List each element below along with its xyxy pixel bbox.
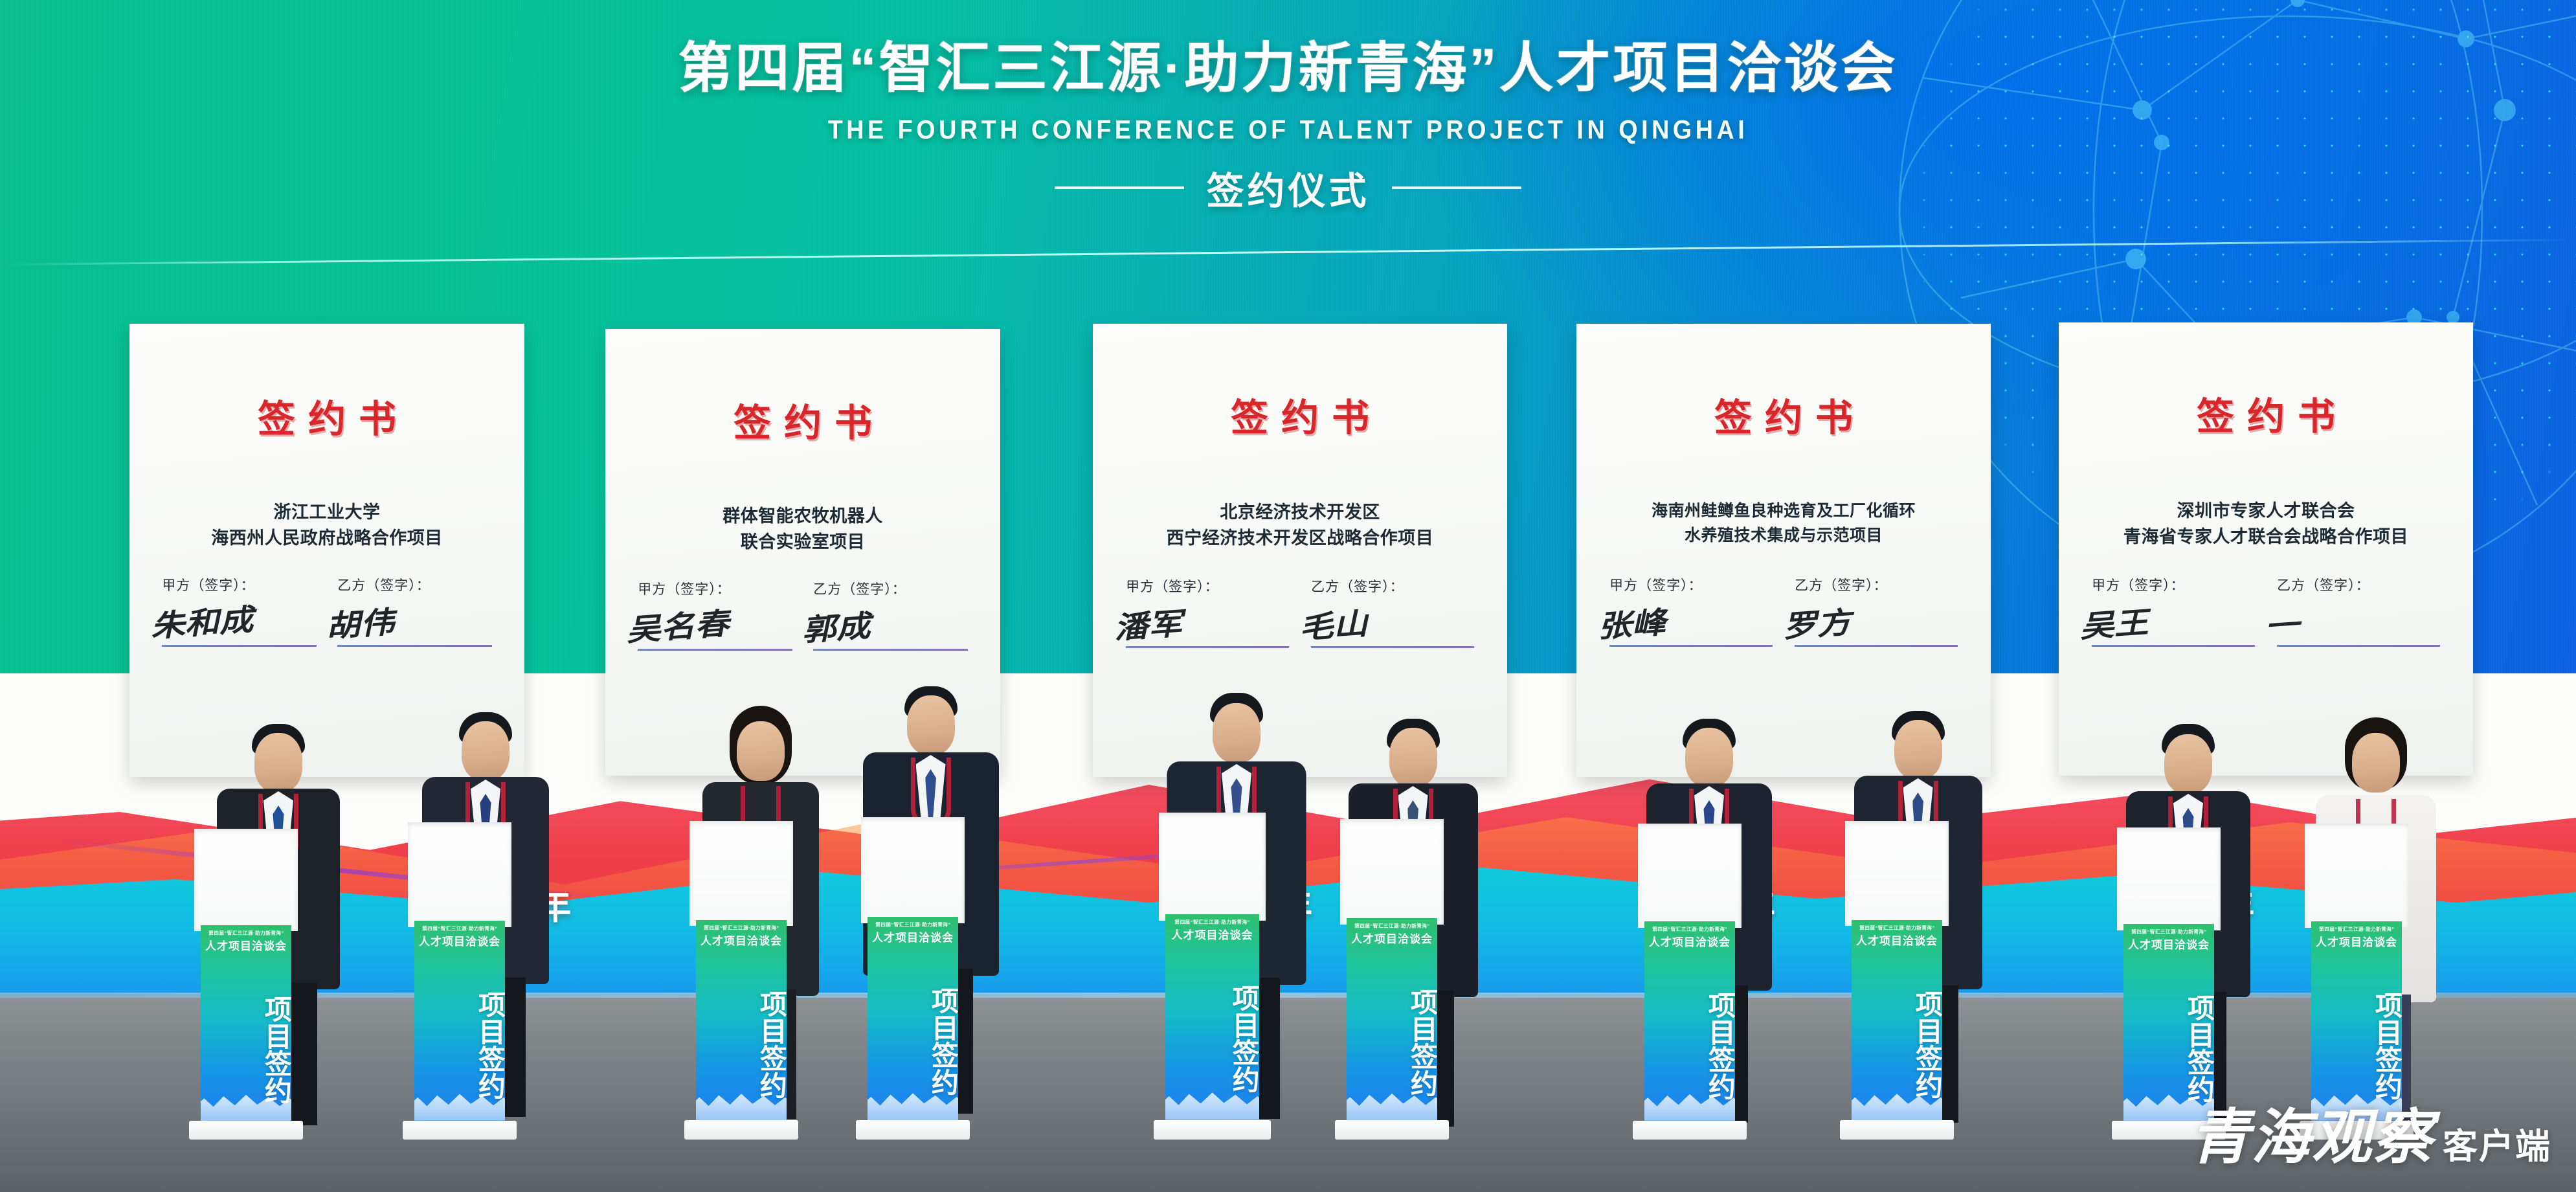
podium-mini-label: 人才项目洽谈会: [414, 932, 506, 949]
board-project-line-2: 青海省专家人才联合会战略合作项目: [2064, 524, 2468, 549]
party-a-block: 甲方（签字）： 潘军: [1126, 576, 1289, 648]
party-b-block: 乙方（签字）： 一: [2277, 575, 2440, 647]
board-project-line-1: 深圳市专家人才联合会: [2064, 499, 2468, 523]
podium-mini-title: 第四届“智汇三江源·助力新青海”: [1353, 922, 1431, 929]
party-a-label: 甲方（签字）：: [2092, 575, 2255, 594]
board-heading: 签约书: [2059, 386, 2473, 440]
podium-mini-title: 第四届“智汇三江源·助力新青海”: [2318, 925, 2395, 932]
board-project-line-2: 海西州人民政府战略合作项目: [135, 526, 519, 550]
party-b-block: 乙方（签字）： 毛山: [1311, 576, 1474, 648]
podium-lectern: 第四届“智汇三江源·助力新青海” 人才项目洽谈会 项目签约: [689, 821, 793, 1140]
event-title-block: 第四届“智汇三江源·助力新青海”人才项目洽谈会 THE FOURTH CONFE…: [0, 25, 2576, 215]
party-a-label: 甲方（签字）：: [1126, 576, 1289, 596]
party-a-label: 甲方（签字）：: [638, 579, 792, 598]
party-b-block: 乙方（签字）： 胡伟: [337, 575, 491, 647]
podium-mini-title: 第四届“智汇三江源·助力新青海”: [207, 929, 285, 936]
party-b-label: 乙方（签字）：: [1311, 576, 1474, 596]
party-a-label: 甲方（签字）：: [162, 575, 316, 594]
board-heading: 签约书: [129, 388, 524, 443]
podium-mini-label: 人才项目洽谈会: [868, 928, 959, 945]
party-a-signature: 张峰: [1596, 590, 1786, 650]
signing-board: 签约书 浙江工业大学 海西州人民政府战略合作项目 甲方（签字）： 朱和成 乙方（…: [129, 324, 524, 777]
podium-mini-title: 第四届“智汇三江源·助力新青海”: [1651, 925, 1729, 932]
podium-lectern: 第四届“智汇三江源·助力新青海” 人才项目洽谈会 项目签约: [861, 817, 965, 1140]
rule-right: [1392, 186, 1521, 189]
podium-mini-label: 人才项目洽谈会: [201, 937, 292, 953]
party-b-label: 乙方（签字）：: [2277, 575, 2440, 594]
party-b-signature: 胡伟: [324, 591, 505, 650]
board-project-line-1: 群体智能农牧机器人: [610, 504, 995, 528]
board-signature-row: 甲方（签字）： 吴王 乙方（签字）： 一: [2059, 575, 2473, 647]
board-project-line-1: 海南州鲑鳟鱼良种选育及工厂化循环: [1582, 500, 1986, 523]
board-project-line-2: 联合实验室项目: [610, 530, 995, 554]
podium-lectern: 第四届“智汇三江源·助力新青海” 人才项目洽谈会 项目签约: [194, 829, 298, 1140]
party-b-signature: 罗方: [1781, 590, 1971, 650]
party-b-signature: 毛山: [1297, 592, 1488, 651]
podium-mini-title: 第四届“智汇三江源·助力新青海”: [2130, 928, 2208, 935]
party-a-block: 甲方（签字）： 张峰: [1609, 575, 1773, 647]
board-heading: 签约书: [605, 392, 1000, 447]
podium-lectern: 第四届“智汇三江源·助力新青海” 人才项目洽谈会 项目签约: [1340, 819, 1444, 1140]
podium-lectern: 第四届“智汇三江源·助力新青海” 人才项目洽谈会 项目签约: [1845, 821, 1949, 1140]
board-project-line-1: 浙江工业大学: [135, 500, 519, 524]
board-project-line-2: 西宁经济技术开发区战略合作项目: [1098, 526, 1502, 550]
podium-mini-title: 第四届“智汇三江源·助力新青海”: [421, 925, 498, 932]
signing-board: 签约书 深圳市专家人才联合会 青海省专家人才联合会战略合作项目 甲方（签字）： …: [2059, 322, 2473, 776]
event-title-english: THE FOURTH CONFERENCE OF TALENT PROJECT …: [103, 115, 2473, 145]
party-a-label: 甲方（签字）：: [1609, 575, 1773, 594]
watermark-sub-text: 客户端: [2443, 1118, 2551, 1175]
podium-mini-label: 人才项目洽谈会: [2123, 936, 2215, 952]
ceremony-label-row: 签约仪式: [0, 161, 2576, 215]
podium-mini-label: 人才项目洽谈会: [1165, 926, 1259, 942]
board-project-line-1: 北京经济技术开发区: [1098, 500, 1502, 524]
podium-mini-label: 人才项目洽谈会: [696, 932, 787, 948]
podium-mini-label: 人才项目洽谈会: [1852, 932, 1943, 948]
party-a-block: 甲方（签字）： 朱和成: [162, 575, 316, 647]
ceremony-label: 签约仪式: [1206, 161, 1369, 215]
signing-board: 签约书 海南州鲑鳟鱼良种选育及工厂化循环 水养殖技术集成与示范项目 甲方（签字）…: [1576, 324, 1991, 777]
board-signature-row: 甲方（签字）： 吴名春 乙方（签字）： 郭成: [605, 579, 1000, 651]
podium-mini-label: 人才项目洽谈会: [2311, 933, 2402, 949]
party-a-signature: 吴名春: [625, 595, 805, 654]
board-heading: 签约书: [1093, 387, 1507, 442]
board-signature-row: 甲方（签字）： 朱和成 乙方（签字）： 胡伟: [129, 575, 524, 647]
podium-mini-label: 人才项目洽谈会: [1347, 930, 1438, 946]
board-project-line-2: 水养殖技术集成与示范项目: [1582, 524, 1986, 548]
party-a-signature: 潘军: [1112, 592, 1303, 651]
podium-lectern: 第四届“智汇三江源·助力新青海” 人才项目洽谈会 项目签约: [408, 822, 511, 1140]
watermark: 青海观察 客户端: [2190, 1089, 2551, 1175]
podium-mini-label: 人才项目洽谈会: [1644, 933, 1736, 949]
party-a-signature: 朱和成: [149, 591, 330, 650]
party-b-signature: 一: [2263, 590, 2454, 650]
podium-mini-title: 第四届“智汇三江源·助力新青海”: [702, 923, 780, 930]
rule-left: [1055, 186, 1184, 189]
board-heading: 签约书: [1576, 387, 1991, 442]
podium-lectern: 第四届“智汇三江源·助力新青海” 人才项目洽谈会 项目签约: [1638, 824, 1742, 1140]
party-a-block: 甲方（签字）： 吴名春: [638, 579, 792, 651]
event-photo-stage: 第四届“智汇三江源·助力新青海”人才项目洽谈会 THE FOURTH CONFE…: [0, 0, 2576, 1192]
podium-mini-title: 第四届“智汇三江源·助力新青海”: [1172, 918, 1252, 925]
podium-mini-title: 第四届“智汇三江源·助力新青海”: [1858, 923, 1936, 930]
board-signature-row: 甲方（签字）： 潘军 乙方（签字）： 毛山: [1093, 576, 1507, 648]
board-signature-row: 甲方（签字）： 张峰 乙方（签字）： 罗方: [1576, 575, 1991, 647]
party-a-block: 甲方（签字）： 吴王: [2092, 575, 2255, 647]
party-b-block: 乙方（签字）： 罗方: [1795, 575, 1958, 647]
event-title-chinese: 第四届“智汇三江源·助力新青海”人才项目洽谈会: [0, 25, 2576, 103]
party-a-signature: 吴王: [2078, 590, 2268, 650]
party-b-label: 乙方（签字）：: [337, 575, 491, 594]
party-b-label: 乙方（签字）：: [813, 579, 967, 598]
watermark-logo-text: 青海观察: [2190, 1089, 2434, 1175]
party-b-label: 乙方（签字）：: [1795, 575, 1958, 594]
party-b-block: 乙方（签字）： 郭成: [813, 579, 967, 651]
party-b-signature: 郭成: [800, 595, 981, 654]
podium-lectern: 第四届“智汇三江源·助力新青海” 人才项目洽谈会 项目签约: [1159, 813, 1266, 1140]
podium-mini-title: 第四届“智汇三江源·助力新青海”: [874, 921, 952, 928]
